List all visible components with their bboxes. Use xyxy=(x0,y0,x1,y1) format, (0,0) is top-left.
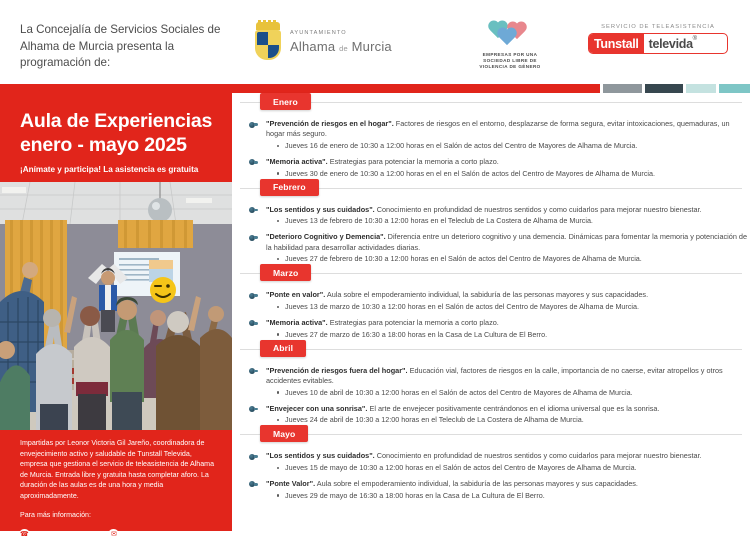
item-description: Estrategias para potenciar la memoria a … xyxy=(328,157,499,166)
item-title: "Los sentidos y sus cuidados". xyxy=(266,451,375,460)
diamond-bullet-icon xyxy=(249,481,258,487)
month-header: Enero xyxy=(232,93,750,113)
item-text: "Ponte en valor". Aula sobre el empodera… xyxy=(266,290,750,300)
month-badge: Abril xyxy=(260,340,306,357)
item-text: "Memoria activa". Estrategias para poten… xyxy=(266,318,750,328)
item-session: Jueves 10 de abril de 10:30 a 12:00 hora… xyxy=(277,388,750,398)
item-session: Jueves 27 de febrero de 10:30 a 12:00 ho… xyxy=(277,254,750,264)
month-block: Febrero"Los sentidos y sus cuidados". Co… xyxy=(232,179,750,265)
color-bar-segment-navy xyxy=(645,84,683,93)
tunstall-televida-logo: SERVICIO DE TELEASISTENCIA Tunstall tele… xyxy=(588,24,728,54)
color-bar-segment-teal xyxy=(719,84,750,93)
tunstall-brand-label: Tunstall xyxy=(589,34,644,53)
item-session: Jueves 24 de abril de 10:30 a 12:00 hora… xyxy=(277,415,750,425)
diamond-bullet-icon xyxy=(249,207,258,213)
month-block: Enero"Prevención de riesgos en el hogar"… xyxy=(232,93,750,179)
item-title: "Ponte Valor". xyxy=(266,479,315,488)
month-badge: Marzo xyxy=(260,264,311,281)
month-badge: Febrero xyxy=(260,179,319,196)
activity-photo xyxy=(0,182,232,430)
item-session: Jueves 30 de enero de 10:30 a 12:00 hora… xyxy=(277,169,750,179)
phone-number: 968 222 842 xyxy=(36,530,85,540)
schedule-item: "Prevención de riesgos en el hogar". Fac… xyxy=(232,119,750,151)
item-text: "Prevención de riesgos en el hogar". Fac… xyxy=(266,119,750,139)
schedule-item: "Envejecer con una sonrisa". El arte de … xyxy=(232,404,750,426)
decorative-color-bar xyxy=(0,84,750,93)
item-description: Aula sobre el empoderamiento individual,… xyxy=(325,290,648,299)
month-header: Abril xyxy=(232,340,750,360)
month-header: Febrero xyxy=(232,179,750,199)
color-bar-segment-red xyxy=(0,84,600,93)
month-block: Marzo"Ponte en valor". Aula sobre el emp… xyxy=(232,264,750,339)
item-text: "Ponte Valor". Aula sobre el empoderamie… xyxy=(266,479,750,489)
coat-of-arms-crest-icon xyxy=(253,22,283,64)
poster-subtitle: ¡Anímate y participa! La asistencia es g… xyxy=(20,164,225,175)
ayuntamiento-small-label: AYUNTAMIENTO xyxy=(290,31,392,37)
ayuntamiento-big-label: Alhama de Murcia xyxy=(290,39,392,54)
month-divider xyxy=(240,273,742,274)
month-block: Abril"Prevención de riesgos fuera del ho… xyxy=(232,340,750,426)
item-description: Aula sobre el empoderamiento individual,… xyxy=(315,479,638,488)
diamond-bullet-icon xyxy=(249,368,258,374)
item-title: "Prevención de riesgos en el hogar". xyxy=(266,119,394,128)
item-text: "Envejecer con una sonrisa". El arte de … xyxy=(266,404,750,414)
televida-brand-label: televida® xyxy=(644,34,698,53)
schedule-item: "Memoria activa". Estrategias para poten… xyxy=(232,157,750,179)
item-session: Jueves 29 de mayo de 16:30 a 18:00 horas… xyxy=(277,491,750,501)
top-header: La Concejalía de Servicios Sociales de A… xyxy=(0,0,750,84)
item-description: El arte de envejecer positivamente centr… xyxy=(367,404,659,413)
month-badge: Enero xyxy=(260,93,311,110)
tunstall-wordmark: Tunstall televida® xyxy=(588,33,728,54)
item-text: "Prevención de riesgos fuera del hogar".… xyxy=(266,366,750,386)
month-divider xyxy=(240,102,742,103)
diamond-bullet-icon xyxy=(249,406,258,412)
item-title: "Ponte en valor". xyxy=(266,290,325,299)
item-title: "Memoria activa". xyxy=(266,318,328,327)
item-description: Conocimiento en profundidad de nuestros … xyxy=(375,205,702,214)
intro-text: La Concejalía de Servicios Sociales de A… xyxy=(20,22,235,72)
month-badge: Mayo xyxy=(260,425,308,442)
schedule-item: "Ponte en valor". Aula sobre el empodera… xyxy=(232,290,750,312)
item-session: Jueves 13 de marzo de 10:30 a 12:00 hora… xyxy=(277,302,750,312)
item-text: "Memoria activa". Estrategias para poten… xyxy=(266,157,750,167)
email-address: l.gil@televida.es xyxy=(125,530,195,540)
item-title: "Envejecer con una sonrisa". xyxy=(266,404,367,413)
item-session: Jueves 13 de febrero de 10:30 a 12:00 ho… xyxy=(277,216,750,226)
item-text: "Los sentidos y sus cuidados". Conocimie… xyxy=(266,205,750,215)
ayuntamiento-wordmark: AYUNTAMIENTO Alhama de Murcia xyxy=(290,31,392,55)
schedule-panel: Enero"Prevención de riesgos en el hogar"… xyxy=(232,93,750,531)
poster-root: La Concejalía de Servicios Sociales de A… xyxy=(0,0,750,531)
teleasistencia-label: SERVICIO DE TELEASISTENCIA xyxy=(588,24,728,30)
diamond-bullet-icon xyxy=(249,159,258,165)
diamond-bullet-icon xyxy=(249,235,258,241)
diamond-bullet-icon xyxy=(249,122,258,128)
more-info-label: Para más información: xyxy=(20,511,91,519)
month-divider xyxy=(240,349,742,350)
three-hearts-icon xyxy=(487,20,533,48)
diamond-bullet-icon xyxy=(249,454,258,460)
color-bar-segment-light-teal xyxy=(686,84,716,93)
schedule-item: "Memoria activa". Estrategias para poten… xyxy=(232,318,750,340)
month-header: Mayo xyxy=(232,425,750,445)
violencia-genero-logo: EMPRESAS POR UNA SOCIEDAD LIBRE DE VIOLE… xyxy=(455,20,565,70)
month-header: Marzo xyxy=(232,264,750,284)
month-block: Mayo"Los sentidos y sus cuidados". Conoc… xyxy=(232,425,750,500)
left-description: Impartidas por Leonor Victoria Gil Jareñ… xyxy=(20,438,216,502)
diamond-bullet-icon xyxy=(249,320,258,326)
schedule-item: "Deterioro Cognitivo y Demencia". Difere… xyxy=(232,232,750,264)
item-session: Jueves 16 de enero de 10:30 a 12:00 hora… xyxy=(277,141,750,151)
poster-title: Aula de Experiencias enero - mayo 2025 xyxy=(20,109,220,157)
item-text: "Los sentidos y sus cuidados". Conocimie… xyxy=(266,451,750,461)
item-description: Estrategias para potenciar la memoria a … xyxy=(328,318,499,327)
item-text: "Deterioro Cognitivo y Demencia". Difere… xyxy=(266,232,750,252)
schedule-item: "Los sentidos y sus cuidados". Conocimie… xyxy=(232,205,750,227)
diamond-bullet-icon xyxy=(249,293,258,299)
schedule-item: "Prevención de riesgos fuera del hogar".… xyxy=(232,366,750,398)
schedule-item: "Ponte Valor". Aula sobre el empoderamie… xyxy=(232,479,750,501)
color-bar-segment-gray xyxy=(603,84,642,93)
item-session: Jueves 15 de mayo de 10:30 a 12:00 horas… xyxy=(277,463,750,473)
item-session: Jueves 27 de marzo de 16:30 a 18:00 hora… xyxy=(277,330,750,340)
left-red-panel: Aula de Experiencias enero - mayo 2025 ¡… xyxy=(0,93,232,531)
item-title: "Los sentidos y sus cuidados". xyxy=(266,205,375,214)
ayuntamiento-logo: AYUNTAMIENTO Alhama de Murcia xyxy=(253,22,392,64)
item-description: Conocimiento en profundidad de nuestros … xyxy=(375,451,702,460)
month-divider xyxy=(240,434,742,435)
violencia-genero-caption: EMPRESAS POR UNA SOCIEDAD LIBRE DE VIOLE… xyxy=(455,52,565,70)
item-title: "Deterioro Cognitivo y Demencia". xyxy=(266,232,386,241)
item-title: "Prevención de riesgos fuera del hogar". xyxy=(266,366,408,375)
schedule-item: "Los sentidos y sus cuidados". Conocimie… xyxy=(232,451,750,473)
item-title: "Memoria activa". xyxy=(266,157,328,166)
